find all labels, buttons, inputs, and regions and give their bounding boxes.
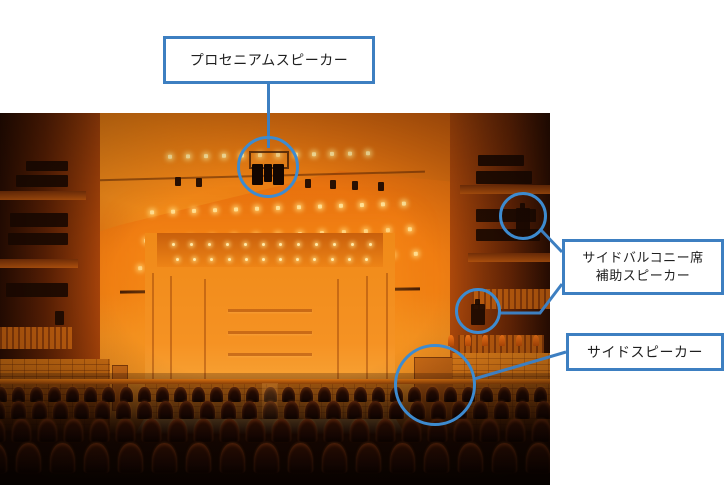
callout-balcony-label-line2: 補助スピーカー [582,267,703,285]
callout-side-balcony-aux-speaker[interactable]: サイドバルコニー席 補助スピーカー [562,239,724,295]
leader-line-balcony-aux [541,230,562,252]
callout-side-label: サイドスピーカー [587,343,703,362]
callout-balcony-label-line1: サイドバルコニー席 [582,249,703,267]
callout-side-speaker[interactable]: サイドスピーカー [566,333,724,371]
proscenium-speaker-ring [237,136,299,198]
leader-line-balcony-aux-lower [499,284,562,313]
callout-proscenium-speaker[interactable]: プロセニアムスピーカー [163,36,375,84]
callout-proscenium-label: プロセニアムスピーカー [190,51,349,70]
annotated-diagram-canvas: プロセニアムスピーカー サイドバルコニー席 補助スピーカー サイドスピーカー [0,0,726,485]
balcony-speaker-ring-lower [455,288,501,334]
side-speaker-ring [394,344,476,426]
leader-line-side-speaker [474,352,566,379]
balcony-speaker-ring-upper [499,192,547,240]
